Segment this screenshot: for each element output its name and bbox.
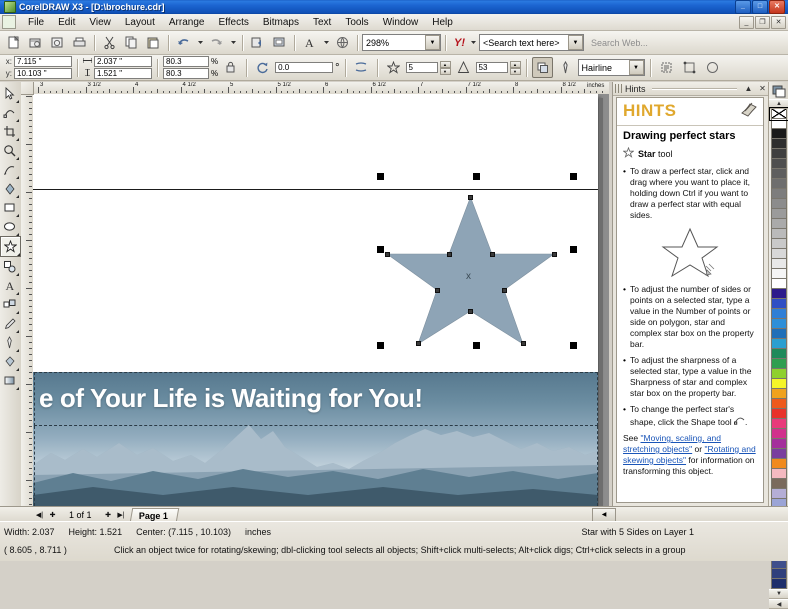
palette-scroll-up[interactable]: ▲ bbox=[769, 99, 788, 109]
smart-fill-tool[interactable] bbox=[0, 179, 19, 198]
ruler-tick bbox=[74, 91, 75, 93]
crop-tool[interactable] bbox=[0, 122, 19, 141]
menu-item-bitmaps[interactable]: Bitmaps bbox=[256, 16, 306, 29]
pick-tool[interactable] bbox=[0, 84, 19, 103]
selection-handle-w[interactable] bbox=[377, 246, 384, 253]
ruler-tick bbox=[175, 91, 176, 93]
outline-pen-icon[interactable] bbox=[555, 57, 576, 78]
selection-handle-nw[interactable] bbox=[377, 173, 384, 180]
menu-item-text[interactable]: Text bbox=[306, 16, 338, 29]
star-points-icon bbox=[383, 57, 404, 78]
ruler-tick bbox=[86, 87, 87, 93]
blend-tool[interactable] bbox=[0, 295, 19, 314]
color-swatch[interactable] bbox=[771, 569, 787, 579]
color-swatch[interactable] bbox=[771, 489, 787, 499]
ruler-tick bbox=[323, 87, 324, 93]
ruler-tick bbox=[26, 144, 32, 145]
interactive-fill-tool[interactable] bbox=[0, 371, 19, 390]
page-count-label: 1 of 1 bbox=[69, 510, 92, 520]
ruler-tick bbox=[299, 89, 300, 93]
status-width: Width: 2.037 bbox=[4, 527, 55, 537]
see-or: or bbox=[692, 444, 704, 454]
color-swatch[interactable] bbox=[771, 189, 787, 199]
rotation-icon bbox=[252, 57, 273, 78]
horizontal-scrollbar-button[interactable]: ◀ bbox=[592, 508, 616, 522]
stepper-up-icon[interactable]: ▲ bbox=[510, 61, 521, 68]
ruler-tick bbox=[29, 486, 32, 487]
ruler-tick bbox=[501, 91, 502, 93]
flyout-arrow-icon[interactable] bbox=[17, 253, 20, 256]
color-swatch[interactable] bbox=[771, 319, 787, 329]
menu-item-edit[interactable]: Edit bbox=[51, 16, 82, 29]
color-swatch[interactable] bbox=[771, 399, 787, 409]
ruler-tick bbox=[252, 89, 253, 93]
ruler-tick bbox=[29, 120, 32, 121]
y-position-field[interactable]: 10.103 " bbox=[14, 68, 72, 79]
color-swatch[interactable] bbox=[771, 159, 787, 169]
star-node[interactable] bbox=[490, 252, 495, 257]
star-node[interactable] bbox=[385, 252, 390, 257]
object-position-group: x: 7.115 " y: 10.103 " bbox=[3, 56, 72, 79]
text-tool[interactable]: A bbox=[0, 276, 19, 295]
stepper-down-icon[interactable]: ▼ bbox=[510, 68, 521, 75]
ruler-tick bbox=[466, 87, 467, 93]
ruler-tick bbox=[26, 96, 32, 97]
color-swatch[interactable] bbox=[771, 439, 787, 449]
toolbar-separator bbox=[242, 35, 243, 51]
ruler-tick bbox=[424, 91, 425, 93]
ruler-tick bbox=[29, 258, 32, 259]
search-value: <Search text here> bbox=[483, 38, 560, 48]
sharpness-stepper[interactable]: ▲▼ bbox=[510, 61, 521, 75]
ruler-tick bbox=[311, 91, 312, 93]
selection-handle-ne[interactable] bbox=[570, 173, 577, 180]
ruler-tick bbox=[584, 89, 585, 93]
status-help-text: Click an object twice for rotating/skewi… bbox=[114, 545, 685, 555]
bullet-icon: • bbox=[623, 404, 626, 428]
hints-bullet: • To draw a perfect star, click and drag… bbox=[623, 166, 757, 221]
ruler-tick bbox=[305, 91, 306, 93]
mirror-icon[interactable] bbox=[351, 57, 372, 78]
add-page-before-button[interactable]: ✚ bbox=[46, 509, 59, 521]
ruler-tick bbox=[258, 91, 259, 93]
ruler-tick bbox=[29, 102, 32, 103]
ruler-tick bbox=[543, 91, 544, 93]
ruler-tick bbox=[26, 480, 32, 481]
chevron-down-icon[interactable]: ▼ bbox=[568, 35, 583, 50]
ruler-tick bbox=[29, 498, 32, 499]
ruler-tick bbox=[26, 288, 32, 289]
rectangle-tool[interactable] bbox=[0, 198, 19, 217]
scale-horizontal-field[interactable]: 80.3 bbox=[163, 56, 209, 67]
rotation-center-marker: x bbox=[466, 272, 471, 282]
sharpness-field[interactable]: 53 bbox=[476, 62, 508, 73]
color-swatch[interactable] bbox=[771, 459, 787, 469]
color-swatch[interactable] bbox=[771, 209, 787, 219]
docker-grip-icon[interactable] bbox=[615, 84, 622, 93]
ruler-tick bbox=[29, 324, 32, 325]
star-node[interactable] bbox=[416, 341, 421, 346]
ruler-tick bbox=[353, 91, 354, 93]
color-swatch[interactable] bbox=[771, 289, 787, 299]
color-swatch[interactable] bbox=[771, 429, 787, 439]
color-swatch[interactable] bbox=[771, 279, 787, 289]
ruler-tick bbox=[513, 87, 514, 93]
ruler-tick bbox=[29, 168, 32, 169]
redo-dropdown-icon[interactable] bbox=[228, 32, 238, 53]
headline-selection-outline bbox=[34, 372, 598, 426]
maximize-button[interactable]: □ bbox=[752, 0, 768, 14]
flyout-arrow-icon[interactable] bbox=[16, 387, 19, 390]
print-icon[interactable] bbox=[69, 32, 90, 53]
ruler-tick bbox=[347, 89, 348, 93]
menu-item-tools[interactable]: Tools bbox=[338, 16, 375, 29]
menu-item-effects[interactable]: Effects bbox=[211, 16, 255, 29]
color-swatch[interactable] bbox=[771, 199, 787, 209]
selection-handle-se[interactable] bbox=[570, 342, 577, 349]
status-row-top: Width: 2.037 Height: 1.521 Center: (7.11… bbox=[0, 522, 788, 540]
undo-dropdown-icon[interactable] bbox=[195, 32, 205, 53]
star-node[interactable] bbox=[435, 288, 440, 293]
new-icon[interactable] bbox=[3, 32, 24, 53]
ruler-label: 8 1/2 bbox=[563, 82, 576, 88]
color-swatch[interactable] bbox=[771, 469, 787, 479]
toolbar-separator bbox=[294, 35, 295, 51]
ruler-label: 3 1/2 bbox=[88, 82, 101, 88]
selection-handle-sw[interactable] bbox=[377, 342, 384, 349]
paste-icon[interactable] bbox=[143, 32, 164, 53]
menu-item-help[interactable]: Help bbox=[425, 16, 460, 29]
lock-icon[interactable] bbox=[220, 57, 241, 78]
ruler-tick bbox=[477, 91, 478, 93]
property-separator bbox=[157, 59, 158, 77]
ruler-tick bbox=[29, 198, 32, 199]
star-node[interactable] bbox=[447, 252, 452, 257]
menu-item-file[interactable]: File bbox=[21, 16, 51, 29]
ruler-tick bbox=[394, 89, 395, 93]
ruler-tick bbox=[192, 91, 193, 93]
ruler-tick bbox=[29, 318, 32, 319]
color-swatch[interactable] bbox=[771, 419, 787, 429]
ruler-tick bbox=[29, 306, 32, 307]
color-swatch[interactable] bbox=[771, 149, 787, 159]
ruler-tick bbox=[29, 360, 32, 361]
palette-scroll-down[interactable]: ▼ bbox=[769, 589, 788, 599]
star-shape[interactable] bbox=[378, 194, 563, 344]
polygon-star-tool[interactable] bbox=[0, 236, 21, 257]
color-swatch[interactable] bbox=[771, 299, 787, 309]
zoom-tool[interactable] bbox=[0, 141, 19, 160]
close-button[interactable]: ✕ bbox=[769, 0, 785, 14]
object-size-group: 2.037 " 1.521 " bbox=[83, 56, 152, 79]
swatch-none[interactable] bbox=[771, 109, 787, 119]
ruler-tick bbox=[29, 276, 32, 277]
ruler-tick bbox=[293, 91, 294, 93]
cut-icon[interactable] bbox=[99, 32, 120, 53]
page-tab-label: Page 1 bbox=[138, 510, 167, 520]
window-controls: _ □ ✕ bbox=[735, 0, 785, 14]
order-icon[interactable] bbox=[532, 57, 553, 78]
property-separator bbox=[345, 59, 346, 77]
star-node[interactable] bbox=[552, 252, 557, 257]
star-node[interactable] bbox=[468, 195, 473, 200]
docker-title-bar[interactable]: Hints ▲ ✕ bbox=[613, 82, 768, 96]
yahoo-dropdown-icon[interactable] bbox=[468, 32, 478, 53]
divider-line bbox=[33, 189, 598, 190]
search-web-button[interactable]: Search Web... bbox=[591, 38, 648, 48]
add-page-after-button[interactable]: ✚ bbox=[102, 509, 115, 521]
scale-vertical-field[interactable]: 80.3 bbox=[163, 68, 209, 79]
color-swatch[interactable] bbox=[771, 329, 787, 339]
stepper-up-icon[interactable]: ▲ bbox=[440, 61, 451, 68]
color-swatch[interactable] bbox=[771, 379, 787, 389]
menu-item-window[interactable]: Window bbox=[376, 16, 426, 29]
ruler-tick bbox=[133, 87, 134, 93]
ruler-tick bbox=[29, 222, 32, 223]
hints-bullet-text: To change the perfect star's shape, clic… bbox=[630, 404, 734, 427]
property-separator bbox=[526, 59, 527, 77]
last-page-button[interactable]: ▶| bbox=[115, 509, 128, 521]
ruler-tick bbox=[442, 89, 443, 93]
doc-close-button[interactable]: ✕ bbox=[771, 16, 786, 29]
fill-tool[interactable] bbox=[0, 352, 19, 371]
basic-shapes-tool[interactable] bbox=[0, 257, 19, 276]
selection-handle-e[interactable] bbox=[570, 246, 577, 253]
color-swatch[interactable] bbox=[771, 259, 787, 269]
color-swatch[interactable] bbox=[771, 369, 787, 379]
hints-book-icon[interactable] bbox=[741, 102, 758, 120]
status-row-bottom: ( 8.605 , 8.711 ) Click an object twice … bbox=[0, 540, 788, 558]
ruler-tick bbox=[29, 126, 32, 127]
app-icon bbox=[4, 1, 16, 13]
color-swatch[interactable] bbox=[771, 239, 787, 249]
ruler-tick bbox=[29, 390, 32, 391]
ruler-tick bbox=[62, 89, 63, 93]
ruler-tick bbox=[406, 91, 407, 93]
color-swatch[interactable] bbox=[771, 179, 787, 189]
color-swatch[interactable] bbox=[771, 349, 787, 359]
menu-bar: File Edit View Layout Arrange Effects Bi… bbox=[0, 14, 788, 31]
save-icon[interactable] bbox=[47, 32, 68, 53]
ruler-tick bbox=[29, 282, 32, 283]
color-swatch[interactable] bbox=[771, 119, 787, 129]
ruler-tick bbox=[29, 210, 32, 211]
hints-see-also: See "Moving, scaling, and stretching obj… bbox=[623, 433, 757, 477]
corel-online-icon[interactable] bbox=[332, 32, 353, 53]
color-swatch[interactable] bbox=[771, 129, 787, 139]
status-coordinates: ( 8.605 , 8.711 ) bbox=[4, 545, 114, 555]
ruler-tick bbox=[495, 91, 496, 93]
ruler-tick bbox=[29, 264, 32, 265]
star-object-group[interactable]: x bbox=[378, 194, 563, 344]
color-palette: ▲ ▼ ◀ bbox=[768, 82, 788, 506]
doc-minimize-button[interactable]: _ bbox=[739, 16, 754, 29]
current-fill-icon[interactable] bbox=[769, 82, 788, 99]
export-icon[interactable] bbox=[269, 32, 290, 53]
color-swatch[interactable] bbox=[771, 389, 787, 399]
color-swatch[interactable] bbox=[771, 579, 787, 589]
ruler-tick bbox=[198, 91, 199, 93]
ruler-tick bbox=[145, 91, 146, 93]
zoom-level-combo[interactable]: 298% ▼ bbox=[362, 34, 441, 51]
degree-label: ° bbox=[335, 62, 339, 74]
doc-restore-button[interactable]: ❐ bbox=[755, 16, 770, 29]
ruler-tick bbox=[29, 366, 32, 367]
ruler-origin[interactable] bbox=[21, 82, 34, 95]
color-swatch[interactable] bbox=[771, 169, 787, 179]
ruler-tick bbox=[566, 91, 567, 93]
ruler-tick bbox=[578, 91, 579, 93]
color-swatch[interactable] bbox=[771, 269, 787, 279]
document-page[interactable]: e of Your Life is Waiting for You! x bbox=[33, 94, 598, 506]
status-height: Height: 1.521 bbox=[69, 527, 123, 537]
collapse-icon[interactable]: ▲ bbox=[743, 83, 754, 94]
contour-icon[interactable] bbox=[702, 57, 723, 78]
ruler-tick bbox=[80, 91, 81, 93]
ruler-tick bbox=[29, 402, 32, 403]
ruler-tick bbox=[186, 91, 187, 93]
svg-text:A: A bbox=[305, 36, 314, 50]
ruler-tick bbox=[388, 91, 389, 93]
status-unit: inches bbox=[245, 527, 271, 537]
star-node[interactable] bbox=[521, 341, 526, 346]
hints-star-illustration bbox=[623, 226, 757, 280]
freehand-tool[interactable] bbox=[0, 160, 19, 179]
ruler-tick bbox=[489, 89, 490, 93]
search-input[interactable]: <Search text here> ▼ bbox=[479, 34, 584, 51]
toolbar-separator bbox=[357, 35, 358, 51]
width-field[interactable]: 2.037 " bbox=[94, 56, 152, 67]
hints-docker: Hints ▲ ✕ HINTS Drawing perfect stars bbox=[612, 82, 768, 506]
ruler-tick bbox=[29, 312, 32, 313]
ruler-tick bbox=[26, 240, 32, 241]
first-page-button[interactable]: ◀| bbox=[33, 509, 46, 521]
ruler-tick bbox=[29, 450, 32, 451]
ruler-tick bbox=[139, 91, 140, 93]
launcher-dropdown-icon[interactable] bbox=[321, 32, 331, 53]
ruler-tick bbox=[29, 300, 32, 301]
rotation-field[interactable]: 0.0 bbox=[275, 62, 333, 73]
ellipse-tool[interactable] bbox=[0, 217, 19, 236]
ruler-tick bbox=[29, 216, 32, 217]
ruler-tick bbox=[29, 426, 32, 427]
color-swatch[interactable] bbox=[771, 449, 787, 459]
document-icon[interactable] bbox=[2, 15, 16, 29]
ruler-tick bbox=[359, 91, 360, 93]
palette-expand[interactable]: ◀ bbox=[769, 599, 788, 609]
open-icon[interactable] bbox=[25, 32, 46, 53]
menu-item-arrange[interactable]: Arrange bbox=[162, 16, 212, 29]
star-points-field[interactable]: 5 bbox=[406, 62, 438, 73]
convert-to-curves-icon[interactable] bbox=[679, 57, 700, 78]
ruler-tick bbox=[29, 492, 32, 493]
stepper-down-icon[interactable]: ▼ bbox=[440, 68, 451, 75]
page-tab-1[interactable]: Page 1 bbox=[129, 508, 178, 522]
ruler-tick bbox=[115, 91, 116, 93]
ruler-tick bbox=[29, 396, 32, 397]
ruler-tick bbox=[91, 91, 92, 93]
ruler-tick bbox=[602, 91, 603, 93]
toolbox: A bbox=[0, 82, 22, 508]
ruler-tick bbox=[29, 252, 32, 253]
outline-width-combo[interactable]: Hairline ▼ bbox=[578, 59, 645, 76]
color-swatch[interactable] bbox=[771, 309, 787, 319]
chevron-down-icon[interactable]: ▼ bbox=[629, 60, 644, 75]
ruler-tick bbox=[29, 414, 32, 415]
bullet-icon: • bbox=[623, 284, 626, 350]
color-swatch[interactable] bbox=[771, 139, 787, 149]
wrap-paragraph-icon[interactable] bbox=[656, 57, 677, 78]
color-swatch[interactable] bbox=[771, 219, 787, 229]
status-center: Center: (7.115 , 10.103) bbox=[136, 527, 231, 537]
ruler-tick bbox=[471, 91, 472, 93]
ruler-label: 3 bbox=[40, 82, 43, 88]
drawing-canvas[interactable]: e of Your Life is Waiting for You! x bbox=[33, 94, 609, 506]
hints-tool-suffix: tool bbox=[656, 149, 673, 159]
ruler-tick bbox=[29, 174, 32, 175]
ruler-tick bbox=[29, 228, 32, 229]
application-launcher-icon[interactable]: A bbox=[299, 32, 320, 53]
x-position-field[interactable]: 7.115 " bbox=[14, 56, 72, 67]
copy-icon[interactable] bbox=[121, 32, 142, 53]
undo-icon[interactable] bbox=[173, 32, 194, 53]
ruler-tick bbox=[507, 91, 508, 93]
shape-tool[interactable] bbox=[0, 103, 19, 122]
star-icon bbox=[623, 147, 634, 161]
redo-icon[interactable] bbox=[206, 32, 227, 53]
color-swatch[interactable] bbox=[771, 229, 787, 239]
eyedropper-tool[interactable] bbox=[0, 314, 19, 333]
ruler-tick bbox=[228, 87, 229, 93]
height-field[interactable]: 1.521 " bbox=[94, 68, 152, 79]
star-node[interactable] bbox=[502, 288, 507, 293]
import-icon[interactable] bbox=[247, 32, 268, 53]
ruler-tick bbox=[97, 91, 98, 93]
property-bar: x: 7.115 " y: 10.103 " 2.037 " 1.521 " 8… bbox=[0, 55, 788, 81]
toolbar-separator bbox=[168, 35, 169, 51]
minimize-button[interactable]: _ bbox=[735, 0, 751, 14]
hints-panel: HINTS Drawing perfect stars Star tool bbox=[616, 97, 764, 503]
star-points-stepper[interactable]: ▲▼ bbox=[440, 61, 451, 75]
chevron-down-icon[interactable]: ▼ bbox=[425, 35, 440, 50]
ruler-tick bbox=[127, 91, 128, 93]
ruler-tick bbox=[454, 91, 455, 93]
ruler-tick bbox=[29, 342, 32, 343]
ruler-label: 5 1/2 bbox=[278, 82, 291, 88]
menu-item-layout[interactable]: Layout bbox=[118, 16, 162, 29]
star-node[interactable] bbox=[468, 309, 473, 314]
color-swatch[interactable] bbox=[771, 479, 787, 489]
ruler-tick bbox=[590, 91, 591, 93]
color-swatch[interactable] bbox=[771, 409, 787, 419]
color-swatch[interactable] bbox=[771, 359, 787, 369]
coreldraw-window: CorelDRAW X3 - [D:\brochure.cdr] _ □ ✕ F… bbox=[0, 0, 788, 560]
ruler-tick bbox=[246, 91, 247, 93]
color-swatch[interactable] bbox=[771, 249, 787, 259]
selection-handle-s[interactable] bbox=[473, 342, 480, 349]
menu-item-view[interactable]: View bbox=[82, 16, 118, 29]
ruler-tick bbox=[412, 91, 413, 93]
ruler-tick bbox=[317, 91, 318, 93]
ruler-tick bbox=[29, 246, 32, 247]
selection-handle-n[interactable] bbox=[473, 173, 480, 180]
color-swatch[interactable] bbox=[771, 339, 787, 349]
ruler-tick bbox=[29, 234, 32, 235]
outline-width-value: Hairline bbox=[582, 63, 613, 73]
ruler-tick bbox=[163, 91, 164, 93]
close-icon[interactable]: ✕ bbox=[757, 83, 768, 94]
outline-tool[interactable] bbox=[0, 333, 19, 352]
